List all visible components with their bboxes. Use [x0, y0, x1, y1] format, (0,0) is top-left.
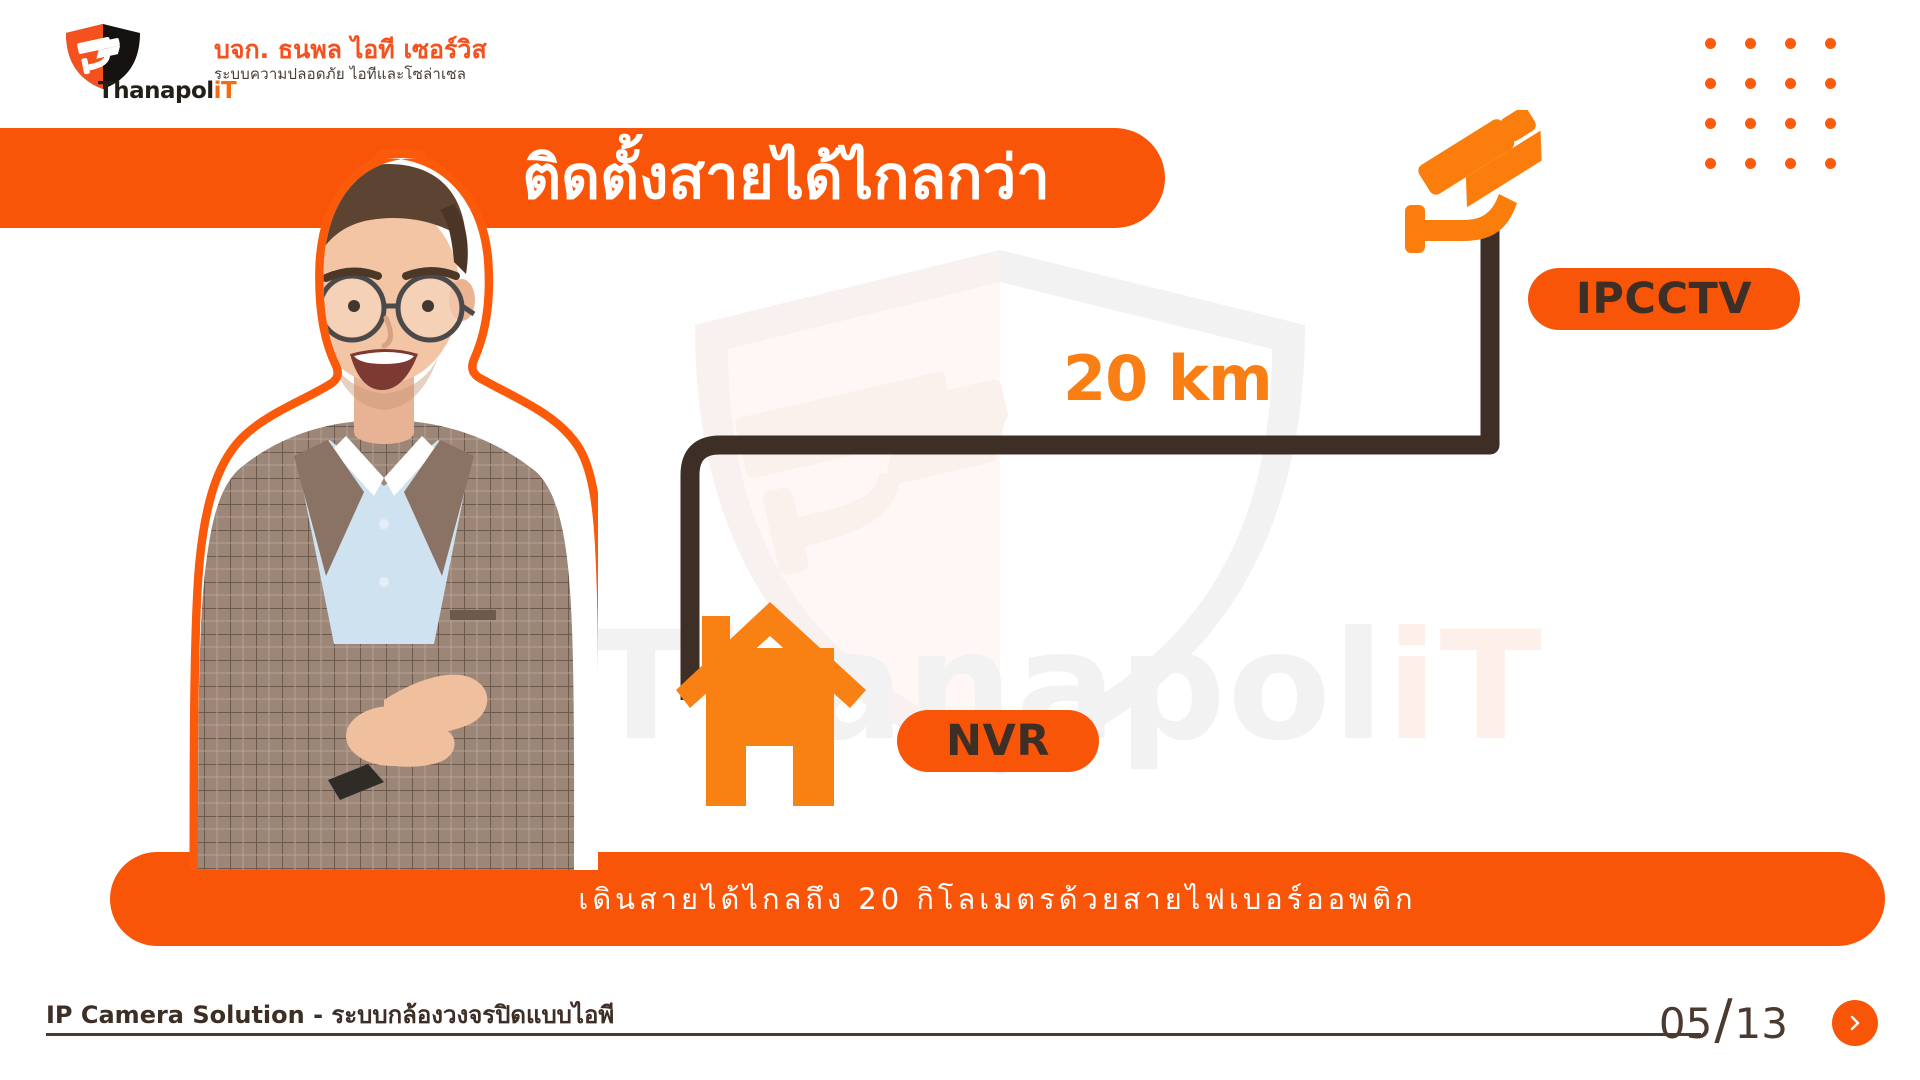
presenter-photo: [178, 140, 598, 870]
company-tagline: ระบบความปลอดภัย ไอทีและโซล่าเซล: [214, 65, 487, 85]
company-name: บจก. ธนพล ไอที เซอร์วิส: [214, 36, 487, 65]
dot-grid-icon: [1705, 38, 1865, 198]
next-slide-button[interactable]: [1832, 1000, 1878, 1046]
page-indicator: 05 / 13: [1659, 988, 1788, 1051]
page-title: ติดตั้งสายได้ไกลกว่า: [522, 148, 1050, 208]
brand-logo[interactable]: ThanapoliT บจก. ธนพล ไอที เซอร์วิส ระบบค…: [60, 22, 487, 98]
caption-text: เดินสายได้ไกลถึง 20 กิโลเมตรด้วยสายไฟเบอ…: [578, 876, 1416, 922]
badge-nvr: NVR: [897, 710, 1099, 772]
page-total: 13: [1735, 999, 1788, 1048]
footer-title: IP Camera Solution - ระบบกล้องวงจรปิดแบบ…: [46, 995, 614, 1034]
brand-wordmark: ThanapoliT: [98, 78, 236, 104]
distance-label: 20 km: [1063, 342, 1272, 415]
page-current: 05: [1659, 999, 1712, 1048]
badge-ipcctv-label: IPCCTV: [1576, 274, 1752, 324]
chevron-right-icon: [1846, 1014, 1864, 1032]
cctv-camera-icon: [1395, 110, 1575, 270]
page-separator: /: [1714, 988, 1732, 1051]
badge-nvr-label: NVR: [946, 716, 1050, 766]
shield-camera-icon: ThanapoliT: [60, 22, 146, 98]
house-nvr-icon: [676, 578, 876, 808]
slide-canvas: ThanapoliT ThanapoliT บจก. ธนพล ไอที เซอ…: [0, 0, 1920, 1080]
badge-ipcctv: IPCCTV: [1528, 268, 1800, 330]
